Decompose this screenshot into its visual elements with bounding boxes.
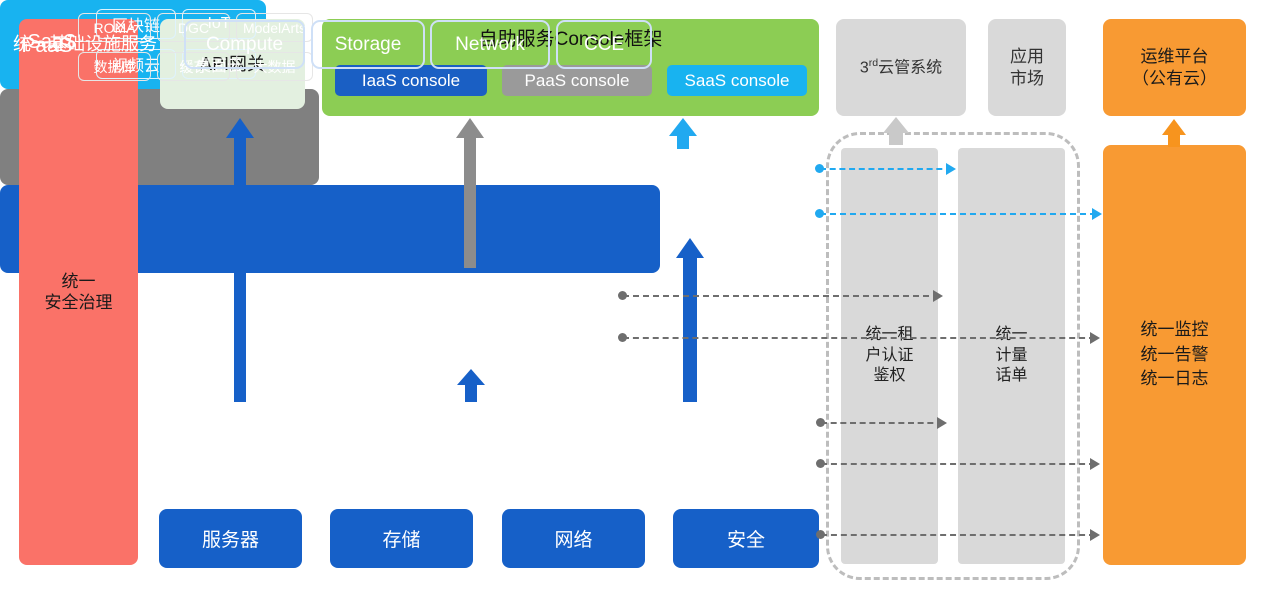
- infra-chip-compute-label: Compute: [206, 34, 283, 56]
- resource-box-server[interactable]: 服务器: [159, 509, 302, 568]
- third-party-cloud-label: 3rd云管系统: [860, 57, 942, 78]
- unified-metering-billing-column: 统一计量话单: [958, 148, 1065, 564]
- iaas-console-label: IaaS console: [362, 70, 460, 91]
- unified-security-governance-label: 统一安全治理: [45, 271, 113, 314]
- arrow-infra-to-api-gateway: [226, 118, 254, 402]
- paas-chip-database-label: 数据库: [94, 57, 136, 77]
- infra-chip-cce-label: CCE: [584, 34, 624, 56]
- third-party-prefix: 3: [860, 59, 869, 76]
- unified-monitoring-label: 统一监控统一告警统一日志: [1141, 318, 1209, 392]
- app-market-box: 应用市场: [988, 19, 1066, 116]
- arrow-saas-to-console: [669, 118, 697, 149]
- connector-saas-to-billing: [820, 168, 952, 170]
- paas-chip-database[interactable]: 数据库: [78, 52, 151, 81]
- infra-chip-network-label: Network: [455, 34, 525, 56]
- resource-server-label: 服务器: [202, 525, 259, 552]
- resource-network-label: 网络: [554, 525, 592, 552]
- connector-arrowhead: [1090, 458, 1100, 470]
- infra-chip-network[interactable]: Network: [430, 20, 550, 69]
- resource-storage-label: 存储: [382, 525, 420, 552]
- unified-metering-billing-label: 统一计量话单: [995, 325, 1027, 387]
- paas-console-label: PaaS console: [525, 70, 630, 91]
- arrow-paas-to-console: [456, 118, 484, 268]
- arrow-infra-to-saas: [675, 238, 705, 402]
- unified-tenant-auth-label: 统一租户认证鉴权: [865, 325, 913, 387]
- unified-monitoring-panel: 统一监控统一告警统一日志: [1103, 145, 1246, 565]
- arrow-middleware-to-third-party: [882, 117, 910, 145]
- unified-tenant-auth-column: 统一租户认证鉴权: [841, 148, 938, 564]
- resource-box-security[interactable]: 安全: [673, 509, 819, 568]
- third-party-cloud-management-box: 3rd云管系统: [836, 19, 966, 116]
- connector-paas-to-ops: [623, 337, 1095, 339]
- connector-arrowhead: [1090, 529, 1100, 541]
- resource-box-network[interactable]: 网络: [502, 509, 645, 568]
- resource-box-storage[interactable]: 存储: [330, 509, 473, 568]
- infra-chip-cce[interactable]: CCE: [556, 20, 652, 69]
- unified-security-governance-panel: 统一安全治理: [19, 19, 138, 565]
- diagram-canvas: 统一安全治理 API网关 自助服务Console框架 IaaS console …: [0, 0, 1265, 605]
- ops-platform-public-cloud-box: 运维平台（公有云）: [1103, 19, 1246, 116]
- paas-console-chip[interactable]: PaaS console: [502, 65, 652, 96]
- saas-console-label: SaaS console: [685, 70, 790, 91]
- connector-arrowhead: [946, 163, 956, 175]
- third-party-suffix: 云管系统: [878, 59, 942, 76]
- infra-chip-compute[interactable]: Compute: [184, 20, 305, 69]
- third-party-superscript: rd: [869, 57, 878, 69]
- unified-infrastructure-service-label: 统一基础设施服务: [13, 30, 157, 56]
- infra-chip-storage[interactable]: Storage: [311, 20, 425, 69]
- infra-chip-storage-label: Storage: [335, 34, 402, 56]
- connector-arrowhead: [937, 417, 947, 429]
- resource-security-label: 安全: [727, 525, 765, 552]
- ops-platform-label: 运维平台（公有云）: [1132, 46, 1217, 89]
- arrow-ops-panel-to-platform: [1160, 119, 1188, 147]
- connector-infra-to-ops: [821, 463, 1095, 465]
- connector-resources-to-ops: [821, 534, 1095, 536]
- connector-paas-to-auth: [623, 295, 939, 297]
- connector-arrowhead: [1090, 332, 1100, 344]
- connector-infra-to-auth: [821, 422, 943, 424]
- connector-saas-to-ops: [820, 213, 1096, 215]
- iaas-console-chip[interactable]: IaaS console: [335, 65, 487, 96]
- connector-arrowhead: [933, 290, 943, 302]
- arrow-infra-to-paas: [458, 369, 484, 402]
- app-market-label: 应用市场: [1010, 46, 1044, 89]
- connector-arrowhead: [1092, 208, 1102, 220]
- saas-console-chip[interactable]: SaaS console: [667, 65, 807, 96]
